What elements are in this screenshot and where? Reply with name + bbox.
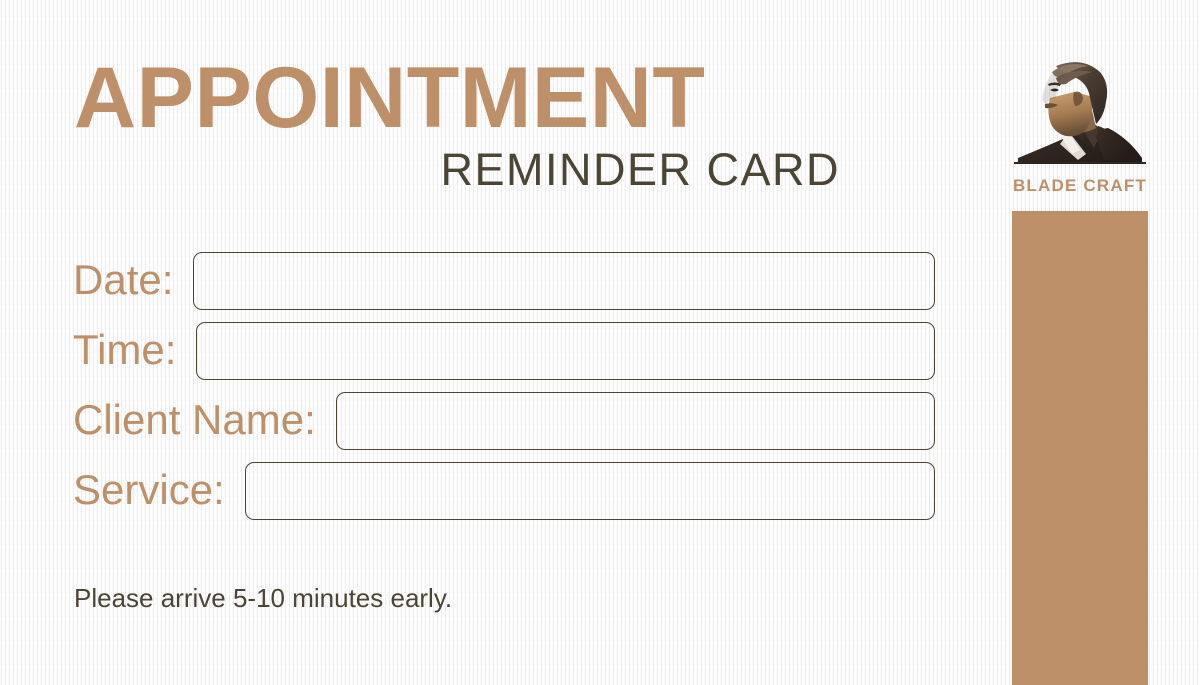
field-row-date: Date: [73,246,935,316]
card-subtitle: REMINDER CARD [440,144,840,195]
bearded-man-profile-icon [1012,58,1148,170]
time-input[interactable] [196,322,935,380]
card-subtitle-row: REMINDER CARD [74,144,842,196]
date-label: Date: [73,259,173,303]
appointment-reminder-card: APPOINTMENT REMINDER CARD [0,0,1200,685]
brand-wordmark: BLADE CRAFT [1012,176,1148,196]
appointment-form: Date: Time: Client Name: Service: [73,246,935,526]
field-row-service: Service: [73,456,935,526]
service-input[interactable] [245,462,935,520]
client-name-label: Client Name: [73,399,316,443]
client-name-input[interactable] [336,392,935,450]
brand-logo: BLADE CRAFT [1012,58,1148,196]
accent-bar [1012,211,1148,685]
field-row-client-name: Client Name: [73,386,935,456]
date-input[interactable] [193,252,935,310]
time-label: Time: [73,329,176,373]
card-header: APPOINTMENT REMINDER CARD [74,56,842,196]
service-label: Service: [73,469,225,513]
field-row-time: Time: [73,316,935,386]
arrival-note: Please arrive 5-10 minutes early. [74,583,452,614]
page-title: APPOINTMENT [74,56,842,140]
